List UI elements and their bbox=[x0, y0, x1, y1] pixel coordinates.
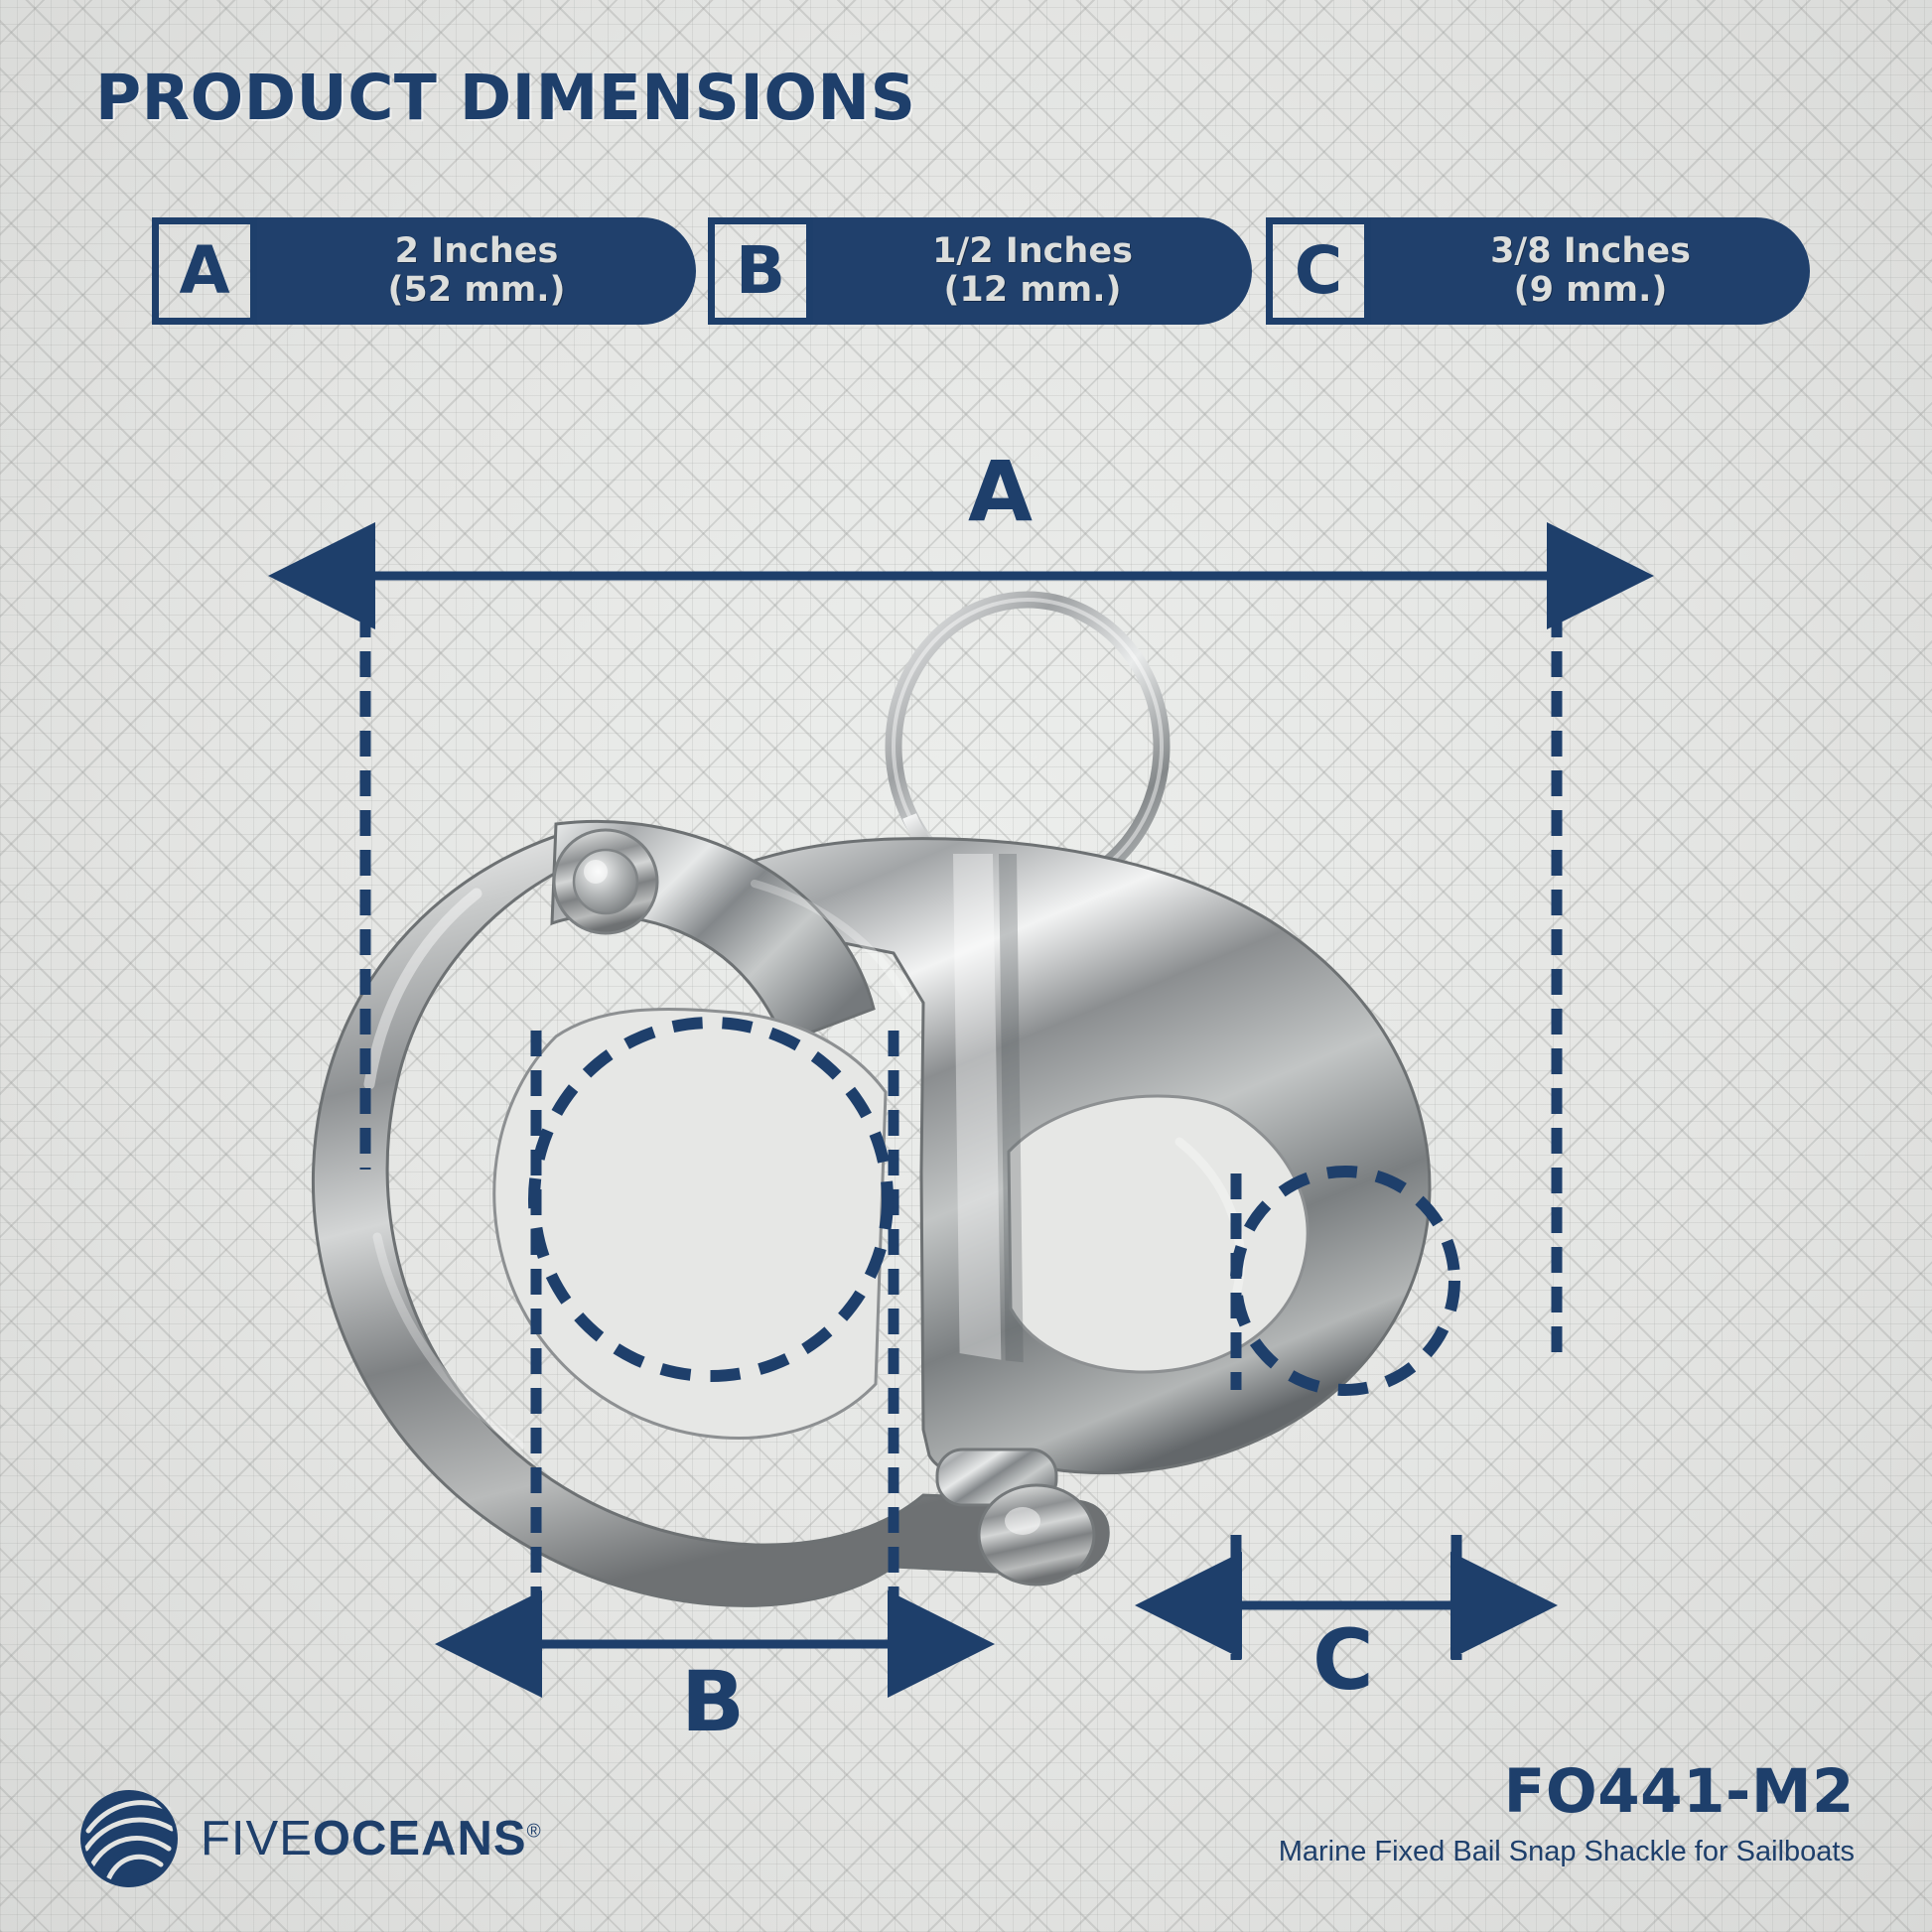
legend-inches-c: 3/8 Inches bbox=[1490, 232, 1691, 271]
dimension-label-b: B bbox=[681, 1660, 745, 1743]
dimension-label-a: A bbox=[968, 450, 1033, 533]
left-throat-opening bbox=[494, 1009, 886, 1438]
legend-value-b: 1/2 Inches (12 mm.) bbox=[813, 217, 1252, 325]
product-dimensions-page: PRODUCT DIMENSIONS A 2 Inches (52 mm.) B… bbox=[0, 0, 1932, 1932]
dashed-circle-large bbox=[534, 1023, 888, 1376]
right-eye-opening bbox=[1009, 1096, 1308, 1372]
legend-key-c: C bbox=[1266, 217, 1371, 325]
pivot-screw bbox=[554, 830, 657, 933]
product-sku-block: FO441-M2 Marine Fixed Bail Snap Shackle … bbox=[1279, 1761, 1855, 1866]
shackle-body bbox=[663, 839, 1430, 1473]
product-sku: FO441-M2 bbox=[1279, 1761, 1855, 1822]
brand-wordmark: FIVEOCEANS® bbox=[201, 1811, 542, 1866]
lower-bail-pin bbox=[937, 1449, 1094, 1585]
product-description: Marine Fixed Bail Snap Shackle for Sailb… bbox=[1279, 1838, 1855, 1866]
legend-badge-a: A 2 Inches (52 mm.) bbox=[152, 217, 696, 325]
legend-badge-b: B 1/2 Inches (12 mm.) bbox=[708, 217, 1252, 325]
legend-mm-a: (52 mm.) bbox=[387, 271, 565, 310]
dashed-circle-small bbox=[1236, 1172, 1454, 1390]
brand-five: FIVE bbox=[201, 1812, 313, 1865]
pull-pin bbox=[989, 856, 1060, 925]
legend-key-b: B bbox=[708, 217, 813, 325]
page-title: PRODUCT DIMENSIONS bbox=[95, 62, 916, 134]
brand-logo: FIVEOCEANS® bbox=[77, 1787, 542, 1890]
legend-badge-c: C 3/8 Inches (9 mm.) bbox=[1266, 217, 1810, 325]
globe-wave-icon bbox=[77, 1787, 181, 1890]
legend-mm-c: (9 mm.) bbox=[1514, 271, 1668, 310]
body-highlight bbox=[953, 854, 1025, 1459]
legend-inches-b: 1/2 Inches bbox=[932, 232, 1133, 271]
legend-value-c: 3/8 Inches (9 mm.) bbox=[1371, 217, 1810, 325]
registered-mark-icon: ® bbox=[527, 1822, 542, 1843]
dimension-label-c: C bbox=[1312, 1618, 1374, 1702]
brand-oceans: OCEANS bbox=[313, 1812, 527, 1865]
legend-value-a: 2 Inches (52 mm.) bbox=[257, 217, 696, 325]
legend-mm-b: (12 mm.) bbox=[943, 271, 1121, 310]
legend-inches-a: 2 Inches bbox=[395, 232, 559, 271]
legend-key-a: A bbox=[152, 217, 257, 325]
split-ring bbox=[894, 600, 1162, 911]
surface-speculars bbox=[369, 884, 1240, 1446]
gate-pivot-lug bbox=[552, 821, 874, 1042]
snap-hook-gate bbox=[313, 828, 1108, 1605]
